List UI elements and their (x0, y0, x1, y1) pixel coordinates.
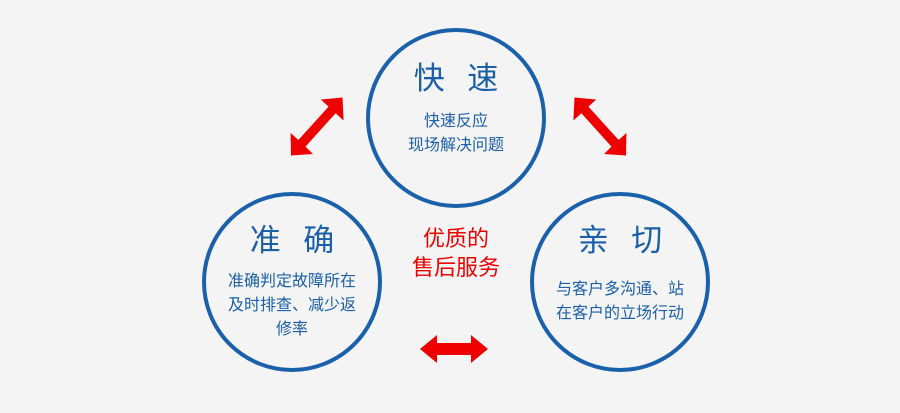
circle-node-accurate[interactable]: 准 确 准确判定故障所在 及时排查、减少返 修率 (202, 192, 382, 372)
circle-node-accurate-title: 准 确 (243, 224, 342, 258)
circle-node-fast-description: 快速反应 现场解决问题 (402, 110, 510, 158)
double-arrow-horizontal-icon (418, 331, 490, 367)
double-arrow-diagonal-up-left-icon (568, 93, 630, 171)
circle-node-fast-title: 快 速 (407, 62, 506, 96)
circle-node-friendly-title: 亲 切 (571, 224, 670, 258)
double-arrow-diagonal-up-right-icon (287, 93, 349, 171)
circle-node-fast[interactable]: 快 速 快速反应 现场解决问题 (366, 28, 546, 208)
circle-node-accurate-description: 准确判定故障所在 及时排查、减少返 修率 (222, 270, 362, 342)
diagram-canvas: 快 速 快速反应 现场解决问题 准 确 准确判定故障所在 及时排查、减少返 修率… (0, 0, 900, 413)
circle-node-friendly-description: 与客户多沟通、站 在客户的立场行动 (550, 278, 690, 326)
circle-node-friendly[interactable]: 亲 切 与客户多沟通、站 在客户的立场行动 (530, 192, 710, 372)
center-label: 优质的 售后服务 (386, 224, 526, 282)
